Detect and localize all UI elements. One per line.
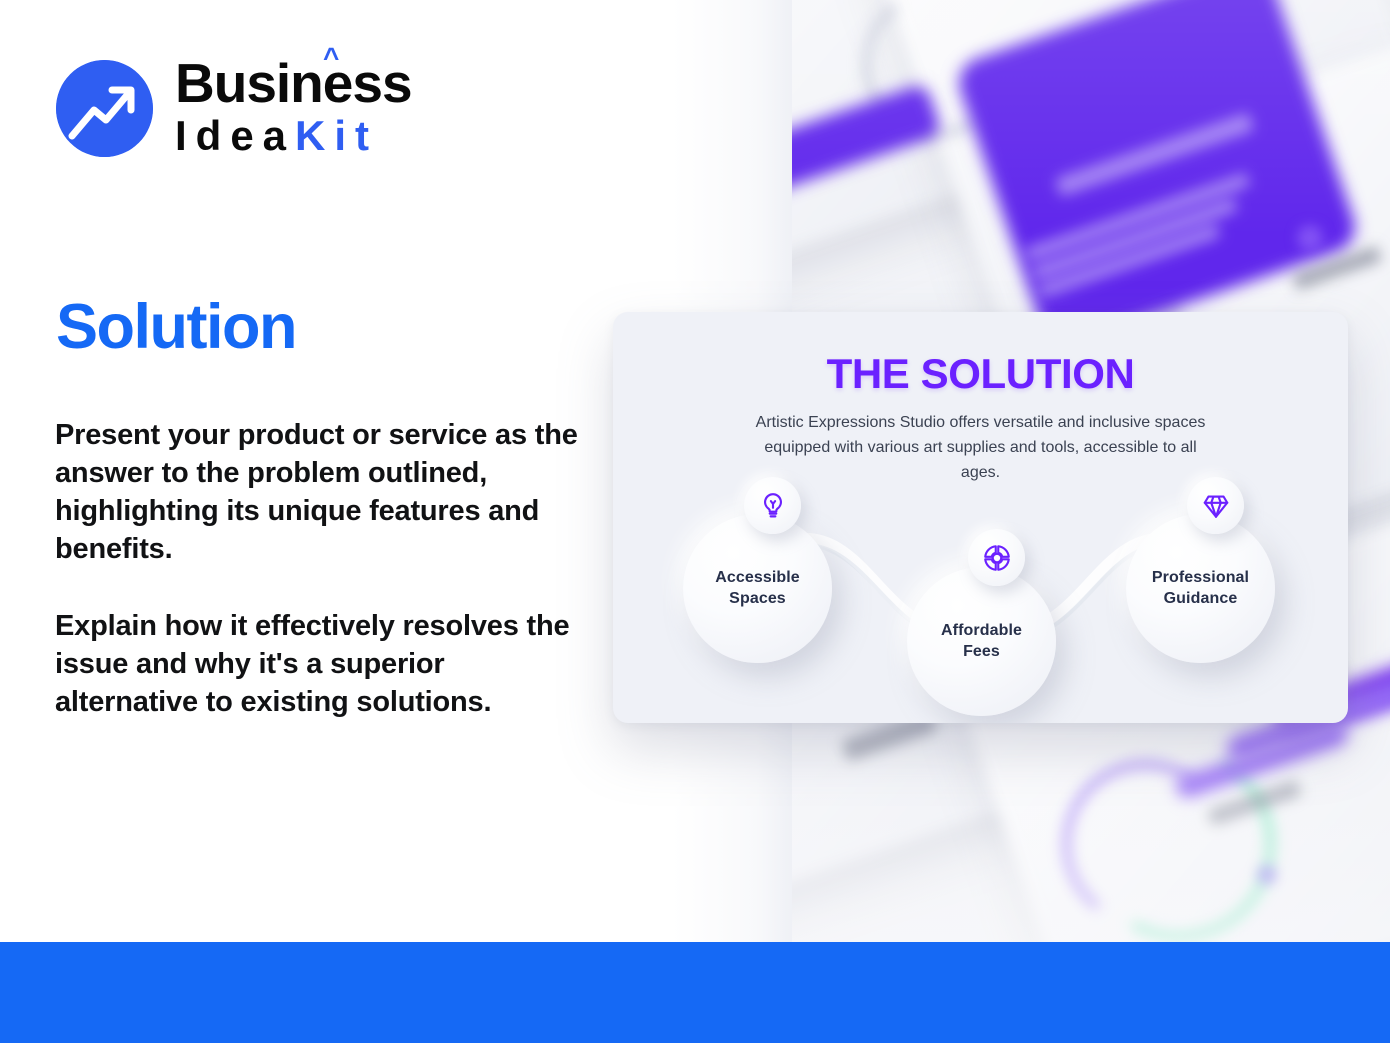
brand-name-line1-text: Business [175,52,412,114]
feature-label-line2: Spaces [729,590,786,607]
feature-label-line1: Accessible [715,569,800,586]
slide-canvas: Business ^ IdeaKit Solution Present your… [0,0,1390,1043]
feature-label: Professional Guidance [1152,568,1249,609]
feature-label-line2: Fees [963,643,1000,660]
blurred-dot [1297,225,1323,251]
lifebuoy-icon [968,529,1025,586]
brand-name-idea: Idea [175,112,295,159]
body-copy: Present your product or service as the a… [55,417,585,722]
growth-arrow-icon [56,60,153,157]
diamond-icon [1187,477,1244,534]
feature-label-line1: Professional [1152,569,1249,586]
feature-label: Affordable Fees [941,621,1022,662]
feature-bubble-affordable-fees[interactable]: Affordable Fees [907,567,1056,716]
footer-bar [0,942,1390,1043]
feature-label-line1: Affordable [941,622,1022,639]
lightbulb-icon [744,477,801,534]
feature-label: Accessible Spaces [715,568,800,609]
brand-name-line1: Business ^ [175,57,412,111]
page-title: Solution [56,296,296,359]
feature-label-line2: Guidance [1164,590,1238,607]
brand-name-line2: IdeaKit [175,113,412,158]
brand-name-kit: Kit [295,112,378,159]
body-paragraph-2: Explain how it effectively resolves the … [55,608,585,722]
feature-bubble-accessible-spaces[interactable]: Accessible Spaces [683,514,832,663]
card-subtitle: Artistic Expressions Studio offers versa… [746,411,1216,485]
brand-wordmark: Business ^ IdeaKit [175,57,412,160]
card-title: THE SOLUTION [613,350,1348,398]
solution-card: THE SOLUTION Artistic Expressions Studio… [613,312,1348,723]
body-paragraph-1: Present your product or service as the a… [55,417,585,569]
caret-accent-icon: ^ [323,44,338,72]
brand-logo[interactable]: Business ^ IdeaKit [56,57,412,160]
feature-bubble-professional-guidance[interactable]: Professional Guidance [1126,514,1275,663]
blurred-dot [1257,865,1277,885]
